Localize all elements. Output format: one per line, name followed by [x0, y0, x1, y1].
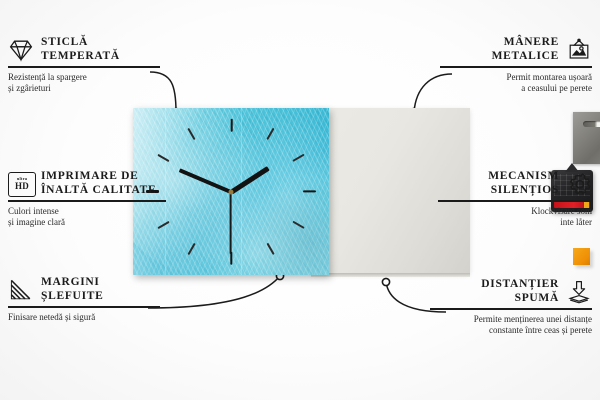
glass-seam-2	[241, 108, 242, 275]
callout-rule	[8, 306, 160, 308]
infographic-stage: STICLĂ TEMPERATĂ Rezistență la spargere …	[0, 0, 600, 400]
bevel-edge-icon	[8, 278, 34, 302]
metal-hanger-plate	[573, 112, 600, 164]
callout-distantier-spuma: DISTANȚIER SPUMĂ Permite menținerea unei…	[430, 278, 592, 337]
title-line-2: METALICE	[492, 50, 559, 64]
sub-line-1: Finisare netedă și sigură	[8, 312, 160, 324]
sub-line-1: Klockvisare som	[438, 206, 592, 218]
title-line-1: IMPRIMARE DE	[41, 170, 156, 184]
callout-title: DISTANȚIER SPUMĂ	[481, 278, 559, 305]
clock-hub	[229, 189, 234, 194]
callout-subtitle: Culori intense și imagine clară	[8, 206, 166, 229]
callout-margini-slefuite: MARGINI ȘLEFUITE Finisare netedă și sigu…	[8, 276, 160, 323]
callout-subtitle: Rezistență la spargere și zgârieturi	[8, 72, 160, 95]
callout-subtitle: Permit montarea ușoară a ceasului pe per…	[440, 72, 592, 95]
title-line-1: DISTANȚIER	[481, 278, 559, 292]
foam-spacer	[573, 248, 590, 265]
title-line-1: MECANISM	[488, 170, 559, 184]
hanger-slot	[583, 121, 600, 127]
title-line-2: TEMPERATĂ	[41, 50, 120, 64]
clock-tick	[157, 154, 169, 162]
sub-line-2: și zgârieturi	[8, 83, 160, 95]
callout-subtitle: Permite menținerea unei distanțe constan…	[430, 314, 592, 337]
clock-second-hand	[230, 192, 232, 254]
callout-header: DISTANȚIER SPUMĂ	[430, 278, 592, 305]
sub-line-1: Permit montarea ușoară	[440, 72, 592, 84]
callout-manere-metalice: MÂNERE METALICE Permit montarea ușoară a…	[440, 36, 592, 95]
sub-line-1: Permite menținerea unei distanțe	[430, 314, 592, 326]
clock-hour-hand	[230, 166, 269, 194]
callout-rule	[438, 200, 592, 202]
callout-title: STICLĂ TEMPERATĂ	[41, 36, 120, 63]
clock-tick	[303, 190, 316, 192]
callout-sticla-temperata: STICLĂ TEMPERATĂ Rezistență la spargere …	[8, 36, 160, 95]
hd-label: HD	[15, 182, 29, 191]
clock-minute-hand	[179, 168, 232, 194]
sub-line-2: și imagine clară	[8, 217, 166, 229]
title-line-1: MARGINI	[41, 276, 103, 290]
callout-rule	[430, 308, 592, 310]
callout-mecanism-silentios: MECANISM SILENȚIOS Klockvisare som inte …	[438, 170, 592, 229]
callout-rule	[8, 200, 166, 202]
callout-header: MECANISM SILENȚIOS	[438, 170, 592, 197]
clock-tick	[266, 128, 274, 140]
press-down-pad-icon	[566, 280, 592, 304]
product-photo	[133, 108, 470, 280]
callout-title: MECANISM SILENȚIOS	[488, 170, 559, 197]
callout-header: MÂNERE METALICE	[440, 36, 592, 63]
callout-header: STICLĂ TEMPERATĂ	[8, 36, 160, 63]
clock-tick	[293, 221, 305, 229]
picture-hanger-icon	[566, 38, 592, 62]
sub-line-2: constante între ceas și perete	[430, 325, 592, 337]
callout-subtitle: Klockvisare som inte låter	[438, 206, 592, 229]
diamond-icon	[8, 38, 34, 62]
callout-subtitle: Finisare netedă și sigură	[8, 312, 160, 324]
callout-rule	[440, 66, 592, 68]
clock-tick	[188, 128, 196, 140]
sub-line-1: Culori intense	[8, 206, 166, 218]
callout-title: MÂNERE METALICE	[492, 36, 559, 63]
callout-imprimare-inalta-calitate: ultra HD IMPRIMARE DE ÎNALTĂ CALITATE Cu…	[8, 170, 166, 229]
callout-rule	[8, 66, 160, 68]
gear-icon	[566, 172, 592, 196]
title-line-1: MÂNERE	[492, 36, 559, 50]
sub-line-1: Rezistență la spargere	[8, 72, 160, 84]
title-line-2: SPUMĂ	[481, 292, 559, 306]
feather-highlight-3	[142, 168, 329, 275]
callout-header: MARGINI ȘLEFUITE	[8, 276, 160, 303]
clock-tick	[266, 243, 274, 255]
clock-tick	[188, 243, 196, 255]
feather-shadow	[243, 168, 329, 275]
callout-title: IMPRIMARE DE ÎNALTĂ CALITATE	[41, 170, 156, 197]
ultra-hd-icon: ultra HD	[8, 172, 34, 196]
title-line-2: SILENȚIOS	[488, 184, 559, 198]
sub-line-2: a ceasului pe perete	[440, 83, 592, 95]
callout-header: ultra HD IMPRIMARE DE ÎNALTĂ CALITATE	[8, 170, 166, 197]
title-line-2: ÎNALTĂ CALITATE	[41, 184, 156, 198]
title-line-1: STICLĂ	[41, 36, 120, 50]
clock-tick	[293, 154, 305, 162]
callout-title: MARGINI ȘLEFUITE	[41, 276, 103, 303]
title-line-2: ȘLEFUITE	[41, 290, 103, 304]
sub-line-2: inte låter	[438, 217, 592, 229]
leader-margini	[148, 276, 280, 308]
clock-tick	[230, 118, 232, 131]
